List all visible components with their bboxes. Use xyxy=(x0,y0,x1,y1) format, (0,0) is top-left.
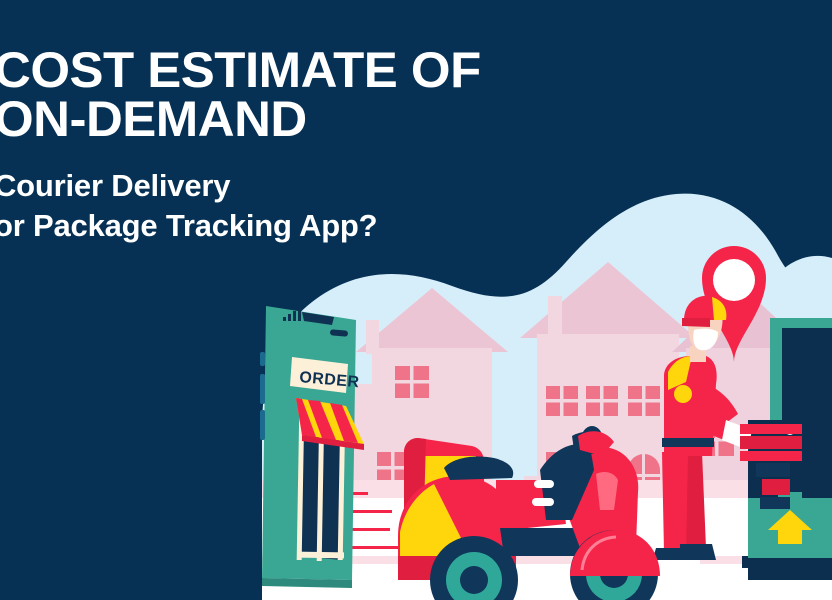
phone-side-buttons xyxy=(260,352,265,440)
scooter-grip-upper xyxy=(534,480,554,488)
package-low xyxy=(740,451,802,461)
courier-belt xyxy=(662,438,714,447)
phone-storefront: ORDER xyxy=(260,306,364,588)
house-chimney-center xyxy=(548,296,562,336)
courier-leg-front xyxy=(662,452,688,552)
house-chimney-left xyxy=(366,320,379,354)
package-mid xyxy=(740,436,802,449)
package-small-1 xyxy=(756,463,790,477)
page-title: COST ESTIMATE OF ON-DEMAND xyxy=(0,46,647,144)
package-small-3 xyxy=(760,497,790,509)
scooter-grip-lower xyxy=(532,498,554,506)
subheadline-line-1: Courier Delivery xyxy=(0,166,634,206)
house-window-left-upper xyxy=(395,366,429,398)
headline-line-1: COST ESTIMATE OF xyxy=(0,46,647,95)
page-subtitle: Courier Delivery or Package Tracking App… xyxy=(0,166,634,245)
courier-app-banner: ORDER COST ESTIMATE OF xyxy=(0,0,832,600)
courier-badge xyxy=(674,385,692,403)
package-top xyxy=(740,424,802,434)
courier-cap-brim xyxy=(682,318,710,327)
house-windows-center-row xyxy=(546,386,660,416)
package-small-2 xyxy=(762,479,790,495)
courier-shoe-front xyxy=(652,548,692,562)
subheadline-line-2: or Package Tracking App? xyxy=(0,206,634,246)
headline-line-2: ON-DEMAND xyxy=(0,95,647,144)
headline-block: COST ESTIMATE OF ON-DEMAND Courier Deliv… xyxy=(0,46,634,245)
